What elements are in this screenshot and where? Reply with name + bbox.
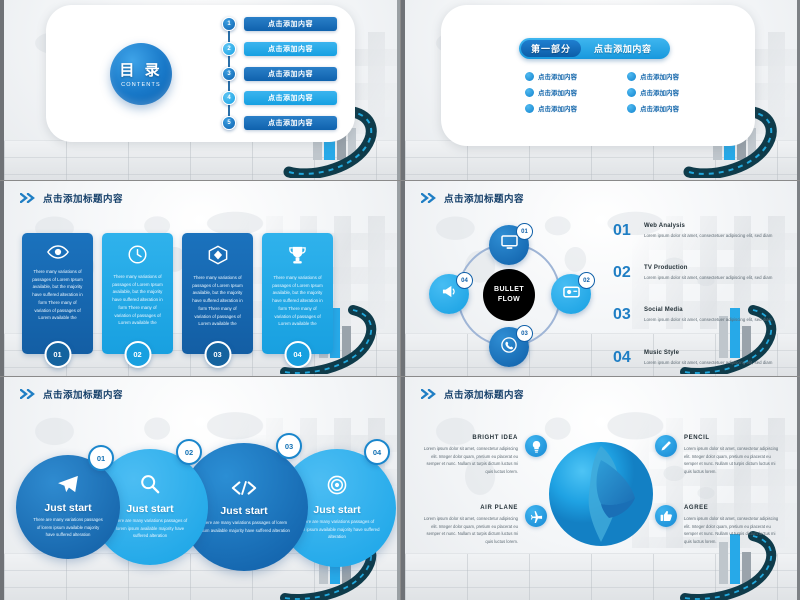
card-grid: There many variations of passages of Lor…: [22, 233, 333, 348]
card[interactable]: There many variations of passages of Lor…: [262, 233, 333, 354]
paper-plane-icon: [57, 475, 79, 498]
circle-number: 02: [176, 439, 202, 465]
section-bullet-list: 点击添加内容 点击添加内容 点击添加内容 点击添加内容 点击添加内容 点击添加内…: [525, 71, 699, 113]
quadrant-body: Lorem ipsum dolor sit amet, consectetur …: [419, 515, 518, 545]
bullet-label: 点击添加内容: [640, 71, 679, 81]
list-item-body: Lorem ipsum dolor sit amet, consectetuer…: [644, 274, 772, 281]
list-item-heading: Social Media: [644, 307, 772, 313]
card-body: There many variations of passages of Lor…: [30, 268, 85, 322]
circle-body: There are many variations passages of lo…: [32, 516, 104, 539]
double-chevron-icon: [20, 193, 37, 203]
toc-badge: 目 录 CONTENTS: [110, 43, 172, 105]
list-item[interactable]: 03 Social Media Lorem ipsum dolor sit am…: [613, 307, 783, 323]
list-item-body: Lorem ipsum dolor sit amet, consectetuer…: [644, 232, 772, 239]
list-item[interactable]: 点击添加内容: [525, 103, 597, 113]
section-panel: 第一部分 点击添加内容 点击添加内容 点击添加内容 点击添加内容 点击添加内容: [441, 5, 755, 146]
flow-node[interactable]: 04: [429, 274, 469, 314]
circle-heading: Just start: [44, 502, 91, 514]
list-item-number: 04: [613, 350, 635, 366]
list-item[interactable]: 点击添加内容: [525, 87, 597, 97]
toc-label[interactable]: 点击添加内容: [244, 116, 337, 130]
list-item[interactable]: 点击添加内容: [627, 103, 699, 113]
list-item[interactable]: 5 点击添加内容: [222, 116, 337, 130]
bullet-dot-icon: [525, 72, 534, 81]
bullet-label: 点击添加内容: [538, 87, 577, 97]
clock-icon: [110, 245, 165, 264]
slide-deck: 目 录 CONTENTS 1 点击添加内容 2 点击添加内容 3 点击添加内容: [0, 0, 800, 600]
page-title: 点击添加标题内容: [20, 191, 123, 205]
list-item-body: Lorem ipsum dolor sit amet, consectetuer…: [644, 316, 772, 323]
page-title-text: 点击添加标题内容: [43, 387, 123, 401]
circle-number: 01: [88, 445, 114, 471]
toc-number: 3: [222, 67, 236, 81]
airplane-icon: [525, 505, 547, 527]
circle-group: Just start There are many variations pas…: [16, 433, 349, 580]
quadrant-body: Lorem ipsum dolor sit amet, consectetur …: [419, 445, 518, 475]
slide-sphere-quadrants[interactable]: 点击添加标题内容 BRIGH: [401, 377, 800, 600]
page-title: 点击添加标题内容: [421, 191, 524, 205]
flow-hub-label: BULLET FLOW: [483, 269, 535, 321]
monitor-icon: [501, 235, 518, 255]
section-title: 点击添加内容: [581, 40, 668, 57]
page-title-text: 点击添加标题内容: [444, 191, 524, 205]
card[interactable]: There many variations of passages of Lor…: [102, 233, 173, 354]
list-item[interactable]: 02 TV Production Lorem ipsum dolor sit a…: [613, 265, 783, 281]
circle-body: There are many variations passages of lo…: [196, 519, 292, 534]
list-item[interactable]: 3 点击添加内容: [222, 67, 337, 81]
toc-number: 1: [222, 17, 236, 31]
slide-section-divider[interactable]: 第一部分 点击添加内容 点击添加内容 点击添加内容 点击添加内容 点击添加内容: [401, 0, 800, 180]
list-item-number: 03: [613, 307, 635, 323]
list-item-number: 01: [613, 223, 635, 239]
flow-node[interactable]: 01: [489, 225, 529, 265]
sphere-graphic: [547, 440, 655, 548]
tv-icon: [563, 285, 580, 304]
quadrant-heading: BRIGHT IDEA: [419, 435, 518, 441]
page-title-text: 点击添加标题内容: [444, 387, 524, 401]
lightbulb-icon: [525, 435, 547, 457]
flow-detail-list: 01 Web Analysis Lorem ipsum dolor sit am…: [613, 223, 783, 366]
toc-panel: 目 录 CONTENTS 1 点击添加内容 2 点击添加内容 3 点击添加内容: [46, 5, 355, 142]
flow-node-number: 04: [456, 272, 473, 289]
megaphone-icon: [441, 284, 458, 304]
bullet-label: 点击添加内容: [538, 71, 577, 81]
circle-body: There are many variations passages of lo…: [108, 517, 192, 540]
flow-node[interactable]: 03: [489, 327, 529, 367]
list-item-number: 02: [613, 265, 635, 281]
section-banner[interactable]: 第一部分 点击添加内容: [519, 38, 670, 59]
quadrant-body: Lorem ipsum dolor sit amet, consectetur …: [684, 515, 783, 545]
circle-heading: Just start: [126, 503, 173, 515]
bullet-label: 点击添加内容: [538, 103, 577, 113]
list-item[interactable]: 点击添加内容: [525, 71, 597, 81]
quadrant-heading: AIR PLANE: [419, 505, 518, 511]
quadrant-agree[interactable]: AGREE Lorem ipsum dolor sit amet, consec…: [655, 505, 783, 545]
double-chevron-icon: [421, 389, 438, 399]
double-chevron-icon: [20, 389, 37, 399]
slide-bullet-flow[interactable]: 点击添加标题内容 BULLET FLOW 01 02 03: [401, 181, 800, 376]
circle-number: 03: [276, 433, 302, 459]
toc-label[interactable]: 点击添加内容: [244, 17, 337, 31]
flow-node-number: 02: [578, 272, 595, 289]
flow-diagram: BULLET FLOW 01 02 03: [435, 229, 585, 359]
list-item-heading: Web Analysis: [644, 223, 772, 229]
list-item-heading: TV Production: [644, 265, 772, 271]
slide-table-of-contents[interactable]: 目 录 CONTENTS 1 点击添加内容 2 点击添加内容 3 点击添加内容: [0, 0, 400, 180]
thumbs-up-icon: [655, 505, 677, 527]
page-title: 点击添加标题内容: [20, 387, 123, 401]
flow-node-number: 03: [516, 325, 533, 342]
slide-four-cards[interactable]: 点击添加标题内容 There many variations of passag…: [0, 181, 400, 376]
target-icon: [327, 475, 347, 500]
circle-heading: Just start: [313, 504, 360, 516]
page-title: 点击添加标题内容: [421, 387, 524, 401]
circle-heading: Just start: [220, 505, 267, 517]
toc-label[interactable]: 点击添加内容: [244, 42, 337, 56]
bullet-dot-icon: [627, 88, 636, 97]
toc-label[interactable]: 点击添加内容: [244, 91, 337, 105]
page-title-text: 点击添加标题内容: [43, 191, 123, 205]
search-icon: [140, 474, 160, 499]
phone-icon: [501, 337, 517, 358]
code-icon: [231, 480, 257, 501]
toc-list: 1 点击添加内容 2 点击添加内容 3 点击添加内容 4 点击添加内容 5: [222, 17, 337, 130]
eye-icon: [30, 245, 85, 259]
bullet-dot-icon: [627, 104, 636, 113]
bullet-dot-icon: [525, 104, 534, 113]
bullet-dot-icon: [627, 72, 636, 81]
card-number: 03: [204, 341, 231, 368]
toc-badge-cn: 目 录: [119, 59, 162, 80]
list-item[interactable]: 2 点击添加内容: [222, 42, 337, 56]
quadrant-heading: AGREE: [684, 505, 783, 511]
flow-node-number: 01: [516, 223, 533, 240]
list-item[interactable]: 04 Music Style Lorem ipsum dolor sit ame…: [613, 350, 783, 366]
bullet-dot-icon: [525, 88, 534, 97]
section-tag: 第一部分: [521, 40, 581, 57]
circle-number: 04: [364, 439, 390, 465]
quadrant-pencil[interactable]: PENCIL Lorem ipsum dolor sit amet, conse…: [655, 435, 783, 475]
list-item-body: Lorem ipsum dolor sit amet, consectetuer…: [644, 359, 772, 366]
toc-badge-en: CONTENTS: [121, 82, 161, 88]
bullet-label: 点击添加内容: [640, 87, 679, 97]
quadrant-body: Lorem ipsum dolor sit amet, consectetur …: [684, 445, 783, 475]
list-item[interactable]: 点击添加内容: [627, 87, 699, 97]
card-number: 04: [284, 341, 311, 368]
quadrant-bright-idea[interactable]: BRIGHT IDEA Lorem ipsum dolor sit amet, …: [419, 435, 547, 475]
card-body: There many variations of passages of Lor…: [110, 273, 165, 327]
card-number: 01: [44, 341, 71, 368]
slide-just-start[interactable]: 点击添加标题内容 Just start There are many varia…: [0, 377, 400, 600]
toc-number: 5: [222, 116, 236, 130]
card-body: There many variations of passages of Lor…: [190, 274, 245, 328]
card-number: 02: [124, 341, 151, 368]
double-chevron-icon: [421, 193, 438, 203]
card-body: There many variations of passages of Lor…: [270, 274, 325, 328]
list-item[interactable]: 1 点击添加内容: [222, 17, 337, 31]
trophy-icon: [270, 245, 325, 265]
list-item[interactable]: 点击添加内容: [627, 71, 699, 81]
pencil-icon: [655, 435, 677, 457]
circle-card[interactable]: Just start There are many variations pas…: [16, 455, 120, 559]
diamond-icon: [190, 245, 245, 265]
toc-number: 2: [222, 42, 236, 56]
bullet-label: 点击添加内容: [640, 103, 679, 113]
quadrant-air-plane[interactable]: AIR PLANE Lorem ipsum dolor sit amet, co…: [419, 505, 547, 545]
toc-number: 4: [222, 91, 236, 105]
toc-label[interactable]: 点击添加内容: [244, 67, 337, 81]
quadrant-heading: PENCIL: [684, 435, 783, 441]
card[interactable]: There many variations of passages of Lor…: [22, 233, 93, 354]
list-item[interactable]: 4 点击添加内容: [222, 91, 337, 105]
card[interactable]: There many variations of passages of Lor…: [182, 233, 253, 354]
circle-body: There are many variations passages of lo…: [294, 518, 380, 541]
list-item[interactable]: 01 Web Analysis Lorem ipsum dolor sit am…: [613, 223, 783, 239]
list-item-heading: Music Style: [644, 350, 772, 356]
flow-node[interactable]: 02: [551, 274, 591, 314]
